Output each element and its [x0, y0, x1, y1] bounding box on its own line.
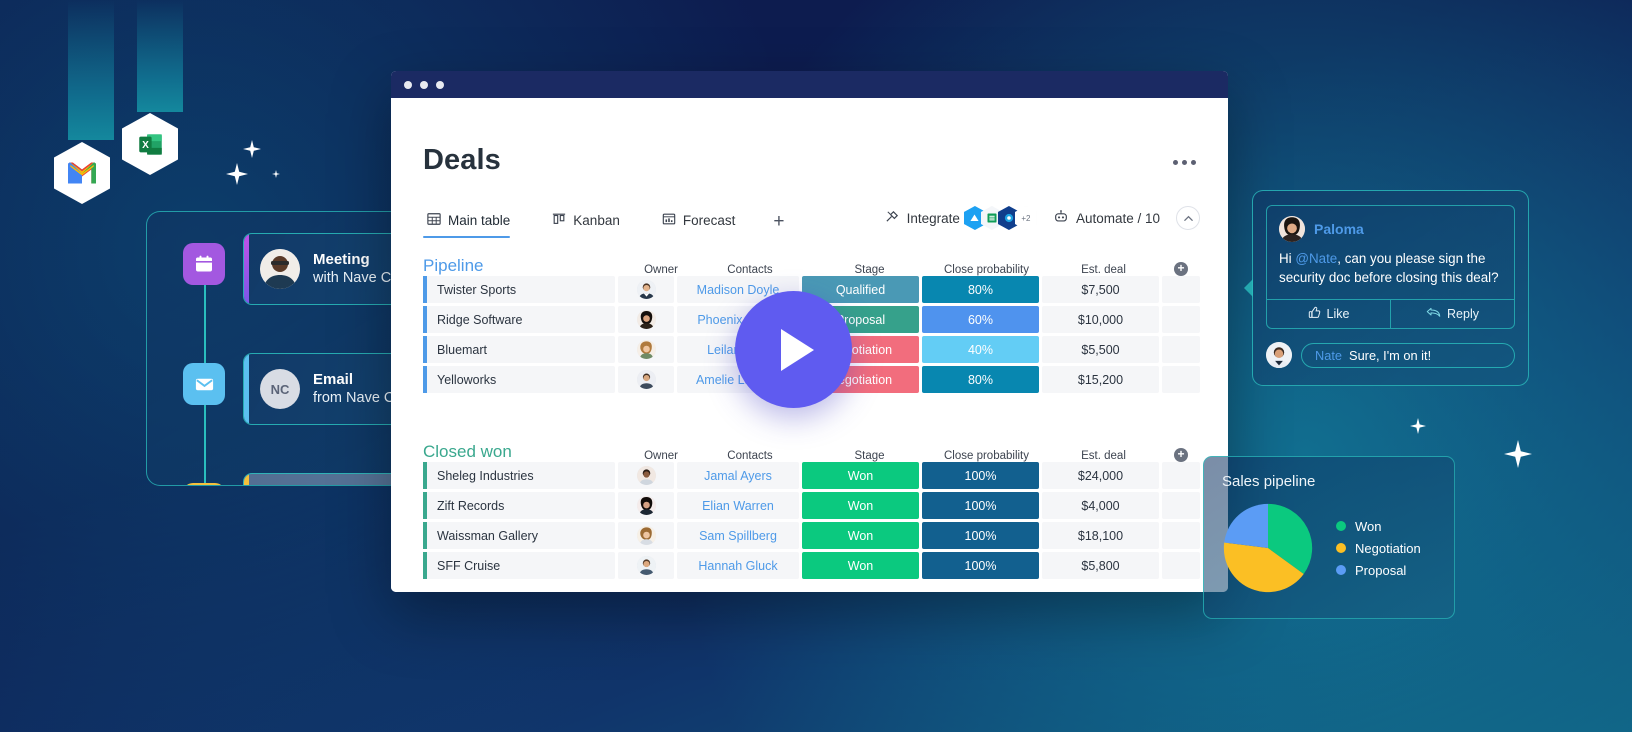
est-deal-text: $5,500 [1081, 343, 1119, 357]
legend-item-proposal: Proposal [1336, 563, 1421, 578]
cell-stage[interactable]: Won [802, 522, 919, 549]
deal-name-text: SFF Cruise [437, 559, 500, 573]
decorative-beam-excel [137, 0, 183, 112]
integrate-button[interactable]: Integrate +2 [885, 206, 1037, 230]
tab-forecast[interactable]: Forecast [658, 212, 744, 238]
deal-name-text: Ridge Software [437, 313, 522, 327]
add-column-button[interactable]: + [1162, 448, 1200, 462]
cell-contact[interactable]: Jamal Ayers [677, 462, 799, 489]
cell-owner[interactable] [618, 462, 674, 489]
like-label: Like [1327, 307, 1350, 321]
owner-avatar [637, 370, 656, 389]
owner-avatar [637, 526, 656, 545]
envelope-icon [183, 363, 225, 405]
integrate-label: Integrate [907, 211, 960, 226]
cell-deal-name[interactable]: SFF Cruise [423, 552, 615, 579]
column-header-owner: Owner [633, 450, 689, 462]
probability-label: 100% [965, 559, 997, 573]
est-deal-text: $5,800 [1081, 559, 1119, 573]
column-header-close-probability: Close probability [928, 264, 1045, 276]
comment-box: Paloma Hi @Nate, can you please sign the… [1266, 205, 1515, 329]
contact-name-text: Jamal Ayers [704, 469, 772, 483]
comment-actions: Like Reply [1267, 299, 1514, 328]
table-row[interactable]: SFF CruiseHannah GluckWon100%$5,800 [423, 552, 1200, 579]
reply-label: Reply [1447, 307, 1479, 321]
owner-avatar [637, 496, 656, 515]
cell-stage[interactable]: Won [802, 492, 919, 519]
cell-deal-name[interactable]: Waissman Gallery [423, 522, 615, 549]
cell-est-deal[interactable]: $15,200 [1042, 366, 1159, 393]
dot [1182, 160, 1187, 165]
cell-deal-name[interactable]: Bluemart [423, 336, 615, 363]
owner-avatar [637, 340, 656, 359]
cell-est-deal[interactable]: $10,000 [1042, 306, 1159, 333]
column-header-contacts: Contacts [689, 450, 811, 462]
pie-chart [1222, 502, 1314, 594]
play-icon [781, 329, 814, 371]
group-title[interactable]: Closed won [423, 442, 633, 462]
cell-est-deal[interactable]: $7,500 [1042, 276, 1159, 303]
window-maximize-dot[interactable] [436, 81, 444, 89]
probability-label: 40% [968, 343, 993, 357]
group-header-row: Closed won Owner Contacts Stage Close pr… [423, 436, 1200, 462]
cell-est-deal[interactable]: $4,000 [1042, 492, 1159, 519]
mention-nate[interactable]: @Nate [1295, 251, 1337, 266]
avatar [260, 249, 300, 289]
thumbs-up-icon [1308, 306, 1321, 322]
cell-close-probability[interactable]: 80% [922, 366, 1039, 393]
chart-title: Sales pipeline [1222, 473, 1436, 490]
dot [1191, 160, 1196, 165]
cell-owner[interactable] [618, 552, 674, 579]
cell-deal-name[interactable]: Twister Sports [423, 276, 615, 303]
deal-name-text: Twister Sports [437, 283, 516, 297]
sparkle-icon [226, 163, 248, 185]
est-deal-text: $7,500 [1081, 283, 1119, 297]
automate-button[interactable]: Automate / 10 [1053, 209, 1160, 227]
contact-name-text: Hannah Gluck [698, 559, 777, 573]
add-view-button[interactable]: + [773, 211, 784, 239]
window-close-dot[interactable] [404, 81, 412, 89]
sales-pipeline-card: Sales pipeline WonNegotiationProposal [1203, 456, 1455, 619]
tab-main-table[interactable]: Main table [423, 212, 518, 238]
cell-add-placeholder[interactable] [1162, 366, 1200, 393]
column-header-stage: Stage [811, 450, 928, 462]
cell-contact[interactable]: Elian Warren [677, 492, 799, 519]
contact-name-text: Madison Doyle [697, 283, 780, 297]
est-deal-text: $4,000 [1081, 499, 1119, 513]
chart-legend: WonNegotiationProposal [1336, 519, 1421, 578]
legend-dot [1336, 543, 1346, 553]
avatar-initials: NC [260, 369, 300, 409]
stage-label: Won [848, 559, 873, 573]
avatar [1279, 216, 1305, 242]
reply-input[interactable]: Nate Sure, I'm on it! [1301, 343, 1515, 368]
legend-item-negotiation: Negotiation [1336, 541, 1421, 556]
table-icon [427, 212, 441, 229]
legend-label: Won [1355, 519, 1382, 534]
cell-close-probability[interactable]: 100% [922, 492, 1039, 519]
stage-label: Won [848, 499, 873, 513]
reply-button[interactable]: Reply [1390, 300, 1514, 328]
integration-overflow-count: +2 [1015, 206, 1037, 230]
probability-label: 80% [968, 373, 993, 387]
stage-label: Qualified [836, 283, 885, 297]
cell-add-placeholder[interactable] [1162, 492, 1200, 519]
collapse-toolbar-button[interactable] [1176, 206, 1200, 230]
probability-label: 100% [965, 499, 997, 513]
cell-contact[interactable]: Sam Spillberg [677, 522, 799, 549]
comment-text-before: Hi [1279, 251, 1295, 266]
cell-stage[interactable]: Won [802, 552, 919, 579]
deal-name-text: Sheleg Industries [437, 469, 534, 483]
column-header-stage: Stage [811, 264, 928, 276]
reply-composer-row: Nate Sure, I'm on it! [1266, 342, 1515, 368]
column-header-est-deal: Est. deal [1045, 450, 1162, 462]
robot-icon [1053, 209, 1069, 227]
plus-icon: + [1174, 448, 1188, 462]
cell-add-placeholder[interactable] [1162, 306, 1200, 333]
cell-add-placeholder[interactable] [1162, 462, 1200, 489]
stage-label: Won [848, 529, 873, 543]
cell-owner[interactable] [618, 276, 674, 303]
cell-owner[interactable] [618, 306, 674, 333]
cell-owner[interactable] [618, 366, 674, 393]
tab-label: Main table [448, 213, 510, 228]
est-deal-text: $18,100 [1078, 529, 1123, 543]
tab-kanban[interactable]: Kanban [548, 212, 628, 238]
cell-owner[interactable] [618, 522, 674, 549]
cell-est-deal[interactable]: $18,100 [1042, 522, 1159, 549]
table-row[interactable]: Waissman GallerySam SpillbergWon100%$18,… [423, 522, 1200, 549]
cell-contact[interactable]: Hannah Gluck [677, 552, 799, 579]
sparkle-icon [243, 140, 261, 158]
owner-avatar [637, 466, 656, 485]
contact-name-text: Elian Warren [702, 499, 774, 513]
probability-label: 60% [968, 313, 993, 327]
chevron-up-icon [1183, 213, 1194, 224]
cell-close-probability[interactable]: 60% [922, 306, 1039, 333]
owner-avatar [637, 556, 656, 575]
probability-label: 100% [965, 469, 997, 483]
comment-author: Paloma [1314, 221, 1364, 237]
deal-name-text: Yelloworks [437, 373, 496, 387]
cell-add-placeholder[interactable] [1162, 336, 1200, 363]
table-row[interactable]: Zift RecordsElian WarrenWon100%$4,000 [423, 492, 1200, 519]
cell-est-deal[interactable]: $24,000 [1042, 462, 1159, 489]
reply-value: Sure, I'm on it! [1349, 348, 1431, 363]
cell-deal-name[interactable]: Yelloworks [423, 366, 615, 393]
legend-label: Negotiation [1355, 541, 1421, 556]
cell-close-probability[interactable]: 40% [922, 336, 1039, 363]
est-deal-text: $15,200 [1078, 373, 1123, 387]
cell-close-probability[interactable]: 100% [922, 552, 1039, 579]
group-title[interactable]: Pipeline [423, 256, 633, 276]
pie-slice-proposal [1224, 504, 1268, 548]
group-closed-won: Closed won Owner Contacts Stage Close pr… [423, 436, 1200, 582]
deal-name-text: Bluemart [437, 343, 487, 357]
table-row[interactable]: Sheleg IndustriesJamal AyersWon100%$24,0… [423, 462, 1200, 489]
group-header-row: Pipeline Owner Contacts Stage Close prob… [423, 250, 1200, 276]
integration-avatars[interactable]: +2 [969, 206, 1037, 230]
tab-label: Kanban [573, 213, 620, 228]
cell-owner[interactable] [618, 336, 674, 363]
cell-owner[interactable] [618, 492, 674, 519]
sparkle-icon [1410, 418, 1426, 434]
owner-avatar [637, 280, 656, 299]
cell-deal-name[interactable]: Ridge Software [423, 306, 615, 333]
automate-label: Automate / 10 [1076, 211, 1160, 226]
reply-arrow-icon [1426, 306, 1441, 322]
owner-avatar [637, 310, 656, 329]
column-header-owner: Owner [633, 264, 689, 276]
page-title: Deals [423, 144, 501, 177]
legend-item-won: Won [1336, 519, 1421, 534]
comment-text: Hi @Nate, can you please sign the securi… [1267, 242, 1514, 299]
avatar [1266, 342, 1292, 368]
column-header-close-probability: Close probability [928, 450, 1045, 462]
tab-label: Forecast [683, 213, 736, 228]
cell-close-probability[interactable]: 100% [922, 462, 1039, 489]
cell-est-deal[interactable]: $5,800 [1042, 552, 1159, 579]
legend-dot [1336, 565, 1346, 575]
play-video-button[interactable] [735, 291, 852, 408]
cell-add-placeholder[interactable] [1162, 552, 1200, 579]
like-button[interactable]: Like [1267, 300, 1390, 328]
integrate-icon [885, 209, 900, 227]
svg-text:X: X [142, 139, 149, 150]
cell-close-probability[interactable]: 80% [922, 276, 1039, 303]
reply-author: Nate [1315, 348, 1342, 363]
cell-deal-name[interactable]: Zift Records [423, 492, 615, 519]
calendar-icon [183, 243, 225, 285]
legend-label: Proposal [1355, 563, 1406, 578]
cell-add-placeholder[interactable] [1162, 522, 1200, 549]
est-deal-text: $10,000 [1078, 313, 1123, 327]
probability-label: 100% [965, 529, 997, 543]
window-titlebar [391, 71, 1228, 98]
comment-popover: Paloma Hi @Nate, can you please sign the… [1252, 190, 1529, 386]
chart-icon [662, 212, 676, 229]
stage-label: Won [848, 469, 873, 483]
deal-name-text: Waissman Gallery [437, 529, 538, 543]
cell-est-deal[interactable]: $5,500 [1042, 336, 1159, 363]
est-deal-text: $24,000 [1078, 469, 1123, 483]
cell-close-probability[interactable]: 100% [922, 522, 1039, 549]
dot [1173, 160, 1178, 165]
more-options-button[interactable] [1173, 160, 1196, 165]
column-header-contacts: Contacts [689, 264, 811, 276]
kanban-icon [552, 212, 566, 229]
plus-icon: + [1174, 262, 1188, 276]
decorative-beam-gmail [68, 0, 114, 140]
board-toolbar: Integrate +2 Au [885, 206, 1200, 230]
legend-dot [1336, 521, 1346, 531]
add-column-button[interactable]: + [1162, 262, 1200, 276]
window-minimize-dot[interactable] [420, 81, 428, 89]
cell-stage[interactable]: Won [802, 462, 919, 489]
sparkle-icon [1504, 440, 1532, 468]
probability-label: 80% [968, 283, 993, 297]
column-header-est-deal: Est. deal [1045, 264, 1162, 276]
comment-header: Paloma [1267, 206, 1514, 242]
cell-add-placeholder[interactable] [1162, 276, 1200, 303]
phone-icon [183, 483, 225, 486]
cell-deal-name[interactable]: Sheleg Industries [423, 462, 615, 489]
deal-name-text: Zift Records [437, 499, 504, 513]
sparkle-icon [272, 170, 280, 178]
contact-name-text: Sam Spillberg [699, 529, 777, 543]
